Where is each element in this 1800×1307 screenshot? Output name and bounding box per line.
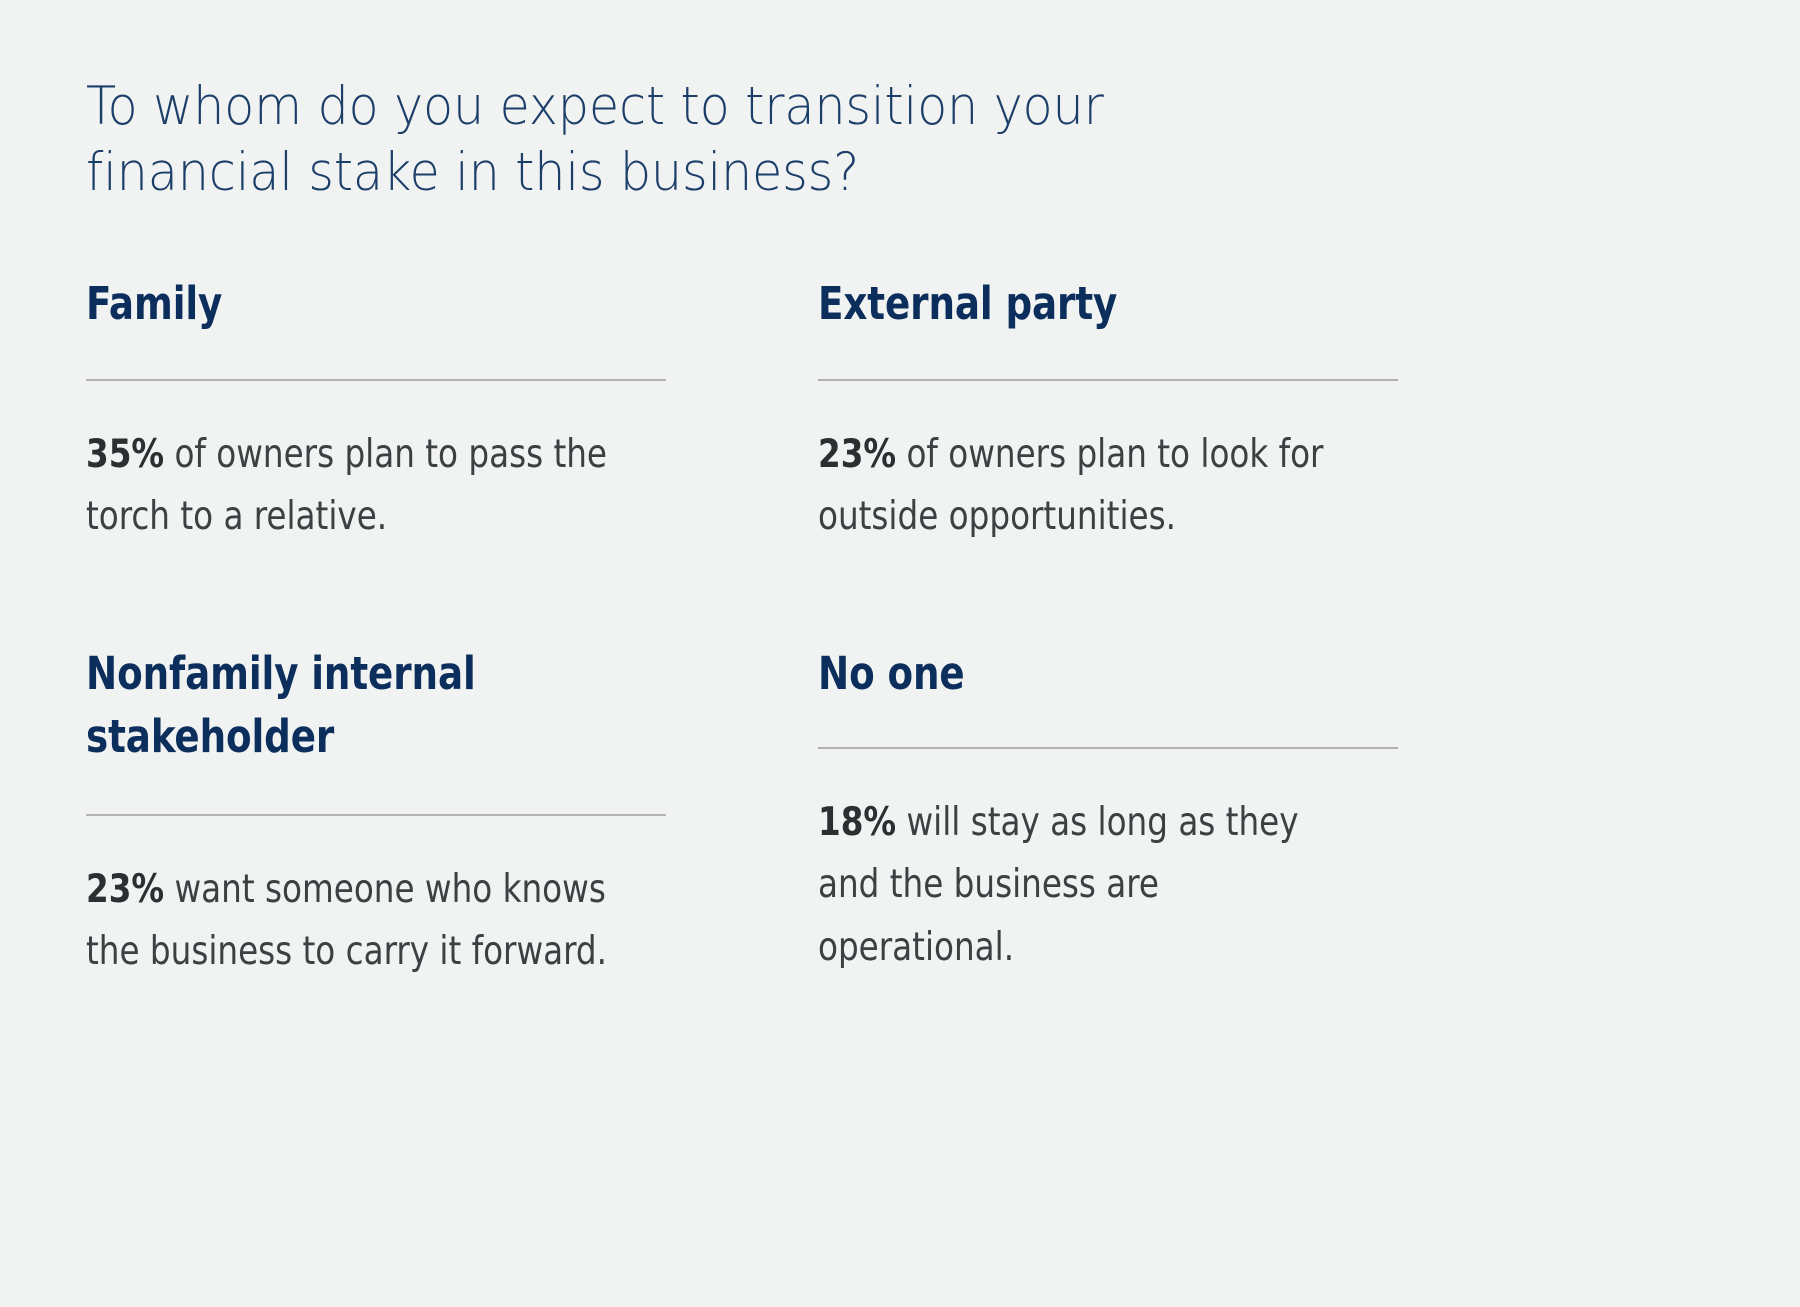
stat-value: 35% bbox=[86, 432, 164, 477]
stat-card-body: 23% want someone who knows the business … bbox=[86, 816, 625, 984]
stat-card-heading: Nonfamily internal stakeholder bbox=[86, 642, 620, 768]
stats-grid: Family 35% of owners plan to pass the to… bbox=[86, 272, 1396, 972]
stat-card-nonfamily-internal-stakeholder: Nonfamily internal stakeholder 23% want … bbox=[86, 642, 666, 972]
stat-description: of owners plan to pass the torch to a re… bbox=[86, 432, 607, 539]
stat-value: 23% bbox=[86, 867, 164, 912]
page-title: To whom do you expect to transition your… bbox=[86, 74, 1202, 205]
stat-card-body: 35% of owners plan to pass the torch to … bbox=[86, 381, 625, 549]
stat-description: want someone who knows the business to c… bbox=[86, 867, 607, 974]
stat-card-heading: Family bbox=[86, 272, 620, 335]
stat-card-heading: No one bbox=[818, 642, 1352, 705]
stat-value: 18% bbox=[818, 800, 896, 845]
stat-value: 23% bbox=[818, 432, 896, 477]
stat-card-no-one: No one 18% will stay as long as they and… bbox=[818, 642, 1398, 972]
stat-card-body: 18% will stay as long as they and the bu… bbox=[818, 749, 1357, 979]
stat-card-heading: External party bbox=[818, 272, 1352, 335]
stat-card-body: 23% of owners plan to look for outside o… bbox=[818, 381, 1357, 549]
infographic-panel: To whom do you expect to transition your… bbox=[0, 0, 1800, 1307]
stat-card-external-party: External party 23% of owners plan to loo… bbox=[818, 272, 1398, 642]
stat-card-family: Family 35% of owners plan to pass the to… bbox=[86, 272, 666, 642]
